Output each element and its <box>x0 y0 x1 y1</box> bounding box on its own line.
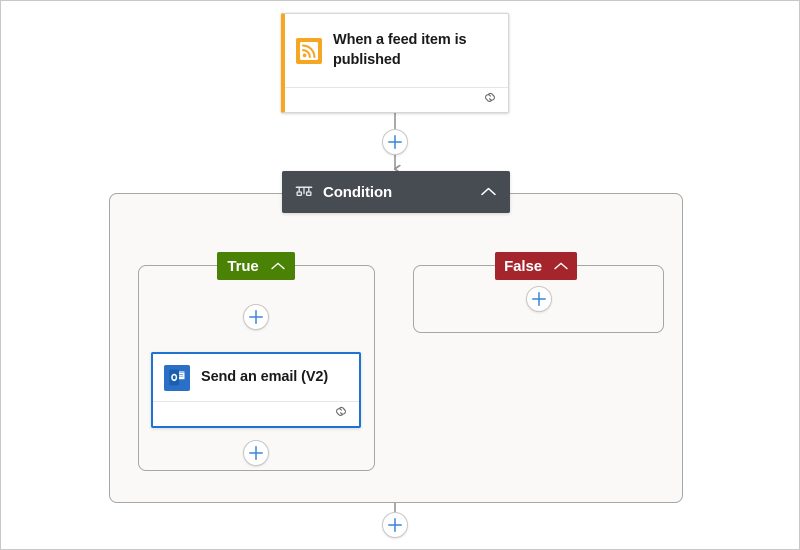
add-step-false-branch[interactable] <box>526 286 552 312</box>
trigger-card-title: When a feed item is published <box>333 31 496 70</box>
condition-title: Condition <box>323 184 471 201</box>
add-step-true-branch-before-email[interactable] <box>243 304 269 330</box>
trigger-card-footer <box>285 87 508 112</box>
add-step-after-condition[interactable] <box>382 512 408 538</box>
branch-pill-true[interactable]: True <box>217 252 295 280</box>
trigger-card-rss[interactable]: When a feed item is published <box>281 13 509 113</box>
branch-label-false: False <box>504 258 542 275</box>
plus-icon <box>249 310 263 324</box>
outlook-icon <box>164 365 190 391</box>
chevron-up-icon[interactable] <box>271 257 285 275</box>
add-step-after-trigger[interactable] <box>382 129 408 155</box>
branch-pill-false[interactable]: False <box>495 252 577 280</box>
add-step-true-branch-after-email[interactable] <box>243 440 269 466</box>
action-card-footer <box>153 401 359 426</box>
flow-designer-canvas: When a feed item is published <box>0 0 800 550</box>
plus-icon <box>388 135 402 149</box>
condition-card-header[interactable]: Condition <box>282 171 510 213</box>
connection-link-icon[interactable] <box>334 405 349 423</box>
plus-icon <box>249 446 263 460</box>
plus-icon <box>532 292 546 306</box>
connection-link-icon[interactable] <box>483 91 498 109</box>
plus-icon <box>388 518 402 532</box>
rss-icon <box>296 38 322 64</box>
branch-label-true: True <box>227 258 258 275</box>
chevron-up-icon[interactable] <box>481 183 496 201</box>
trigger-card-header: When a feed item is published <box>285 14 508 87</box>
action-card-header: Send an email (V2) <box>153 354 359 401</box>
condition-branch-icon <box>295 183 313 201</box>
action-card-send-an-email[interactable]: Send an email (V2) <box>151 352 361 428</box>
chevron-up-icon[interactable] <box>554 257 568 275</box>
action-card-title: Send an email (V2) <box>201 368 328 387</box>
